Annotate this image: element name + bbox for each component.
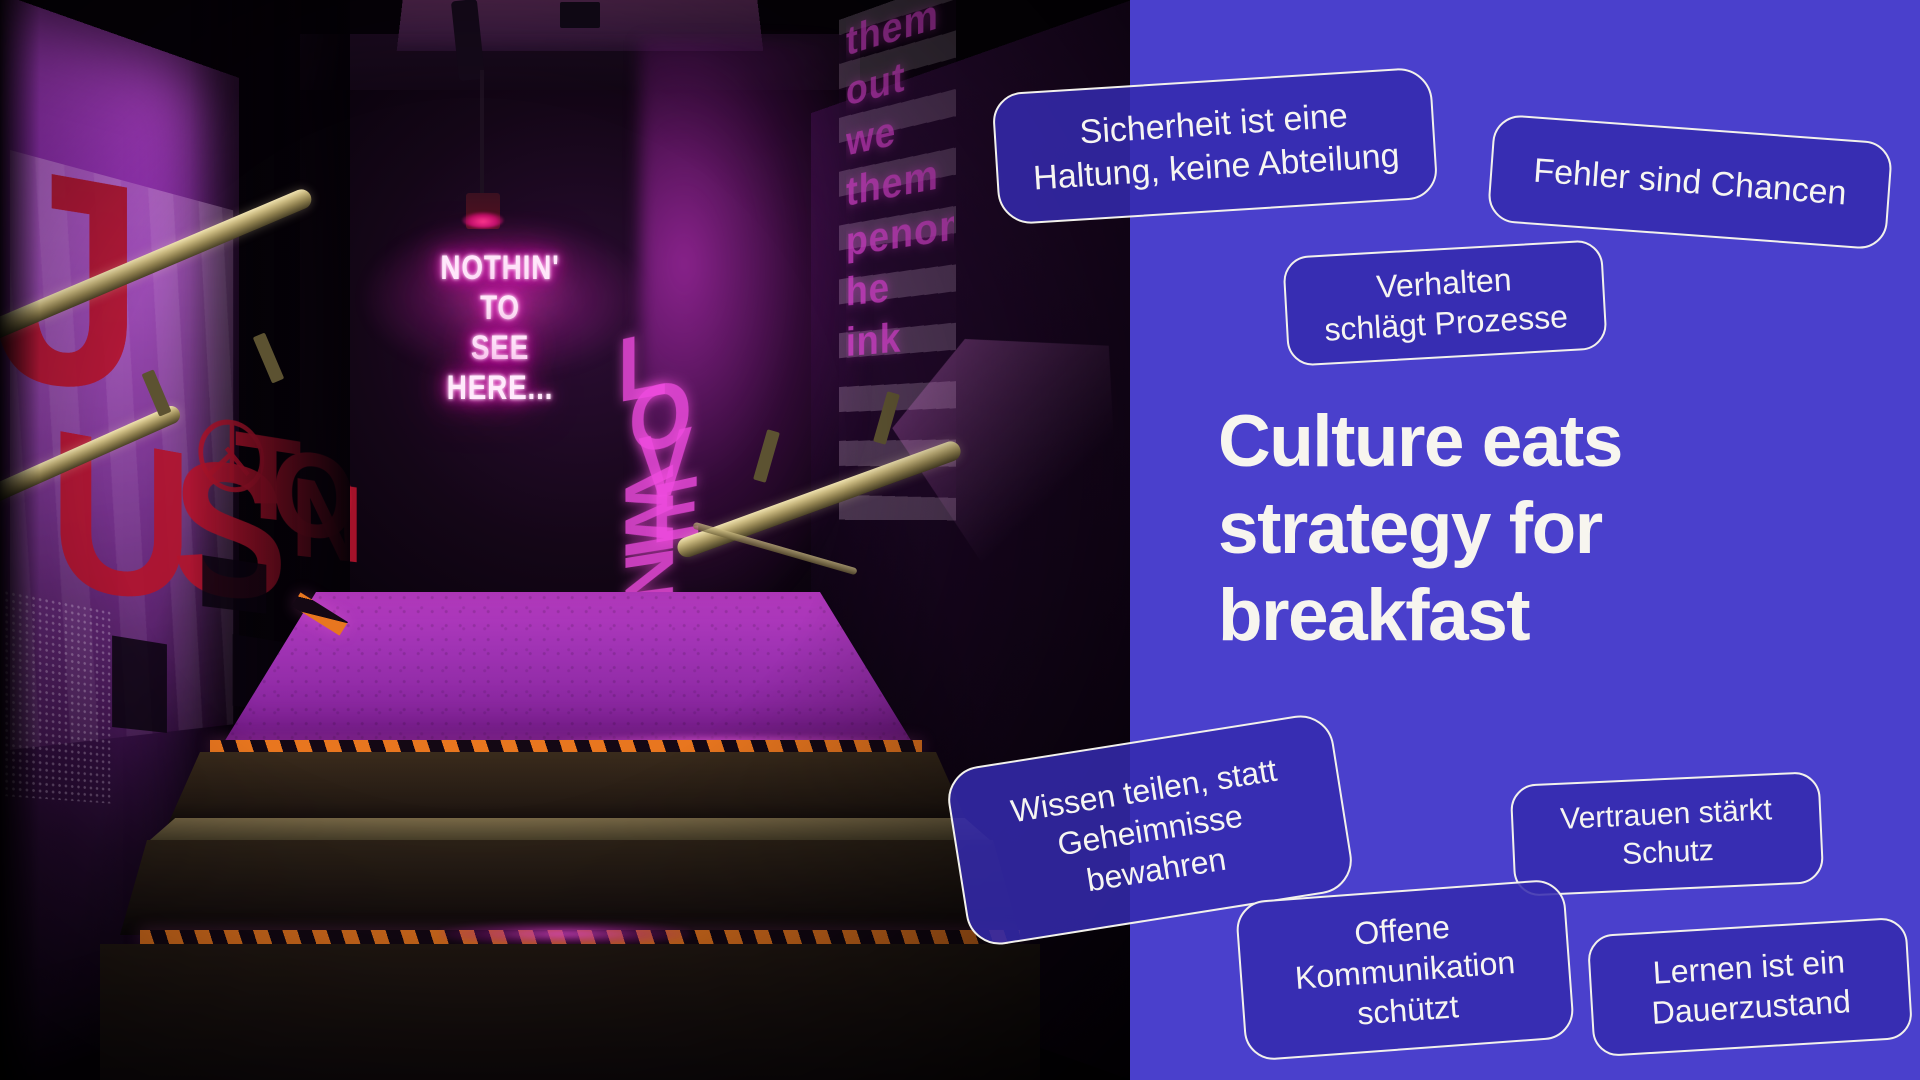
photo-left-shadow (0, 0, 40, 1080)
value-card-fehler-line-1: Fehler sind Chancen (1532, 149, 1848, 215)
background-photo-stairwell: NOTHIN' TO SEE HERE... J U S T O N themo… (0, 0, 1130, 1080)
stair-step-1-riser (168, 752, 968, 824)
page-title: Culture eats strategy for breakfast (1218, 398, 1738, 659)
headline-line-1: Culture eats (1218, 398, 1738, 485)
value-card-vertrauen[interactable]: Vertrauen stärkt Schutz (1510, 771, 1825, 897)
value-card-offene-kommunikation[interactable]: Offene Kommunikation schützt (1235, 878, 1576, 1062)
value-card-lernen[interactable]: Lernen ist ein Dauerzustand (1587, 917, 1914, 1058)
poster-black-block (112, 635, 167, 732)
stair-step-2-riser (120, 840, 1020, 935)
floor-glitter-reflection (440, 922, 690, 946)
neon-sign-line-1: NOTHIN' TO (418, 248, 582, 328)
neon-sign: NOTHIN' TO SEE HERE... (400, 248, 600, 338)
ceiling-vent (560, 2, 600, 28)
hazard-tape-step-1 (210, 740, 922, 753)
right-wall-poster-text: themoutwethempenomhe ink (846, 0, 954, 422)
neon-sign-line-2: SEE HERE... (418, 328, 582, 408)
stair-foreground (100, 944, 1040, 1080)
stair-step-2-tread (150, 818, 990, 840)
headline-line-3: breakfast (1218, 572, 1738, 659)
lamp-cord (480, 70, 484, 195)
headline-line-2: strategy for (1218, 485, 1738, 572)
slide-canvas: NOTHIN' TO SEE HERE... J U S T O N themo… (0, 0, 1920, 1080)
value-card-sicherheit[interactable]: Sicherheit ist eine Haltung, keine Abtei… (991, 66, 1438, 225)
value-card-verhalten[interactable]: Verhalten schlägt Prozesse (1282, 239, 1608, 367)
